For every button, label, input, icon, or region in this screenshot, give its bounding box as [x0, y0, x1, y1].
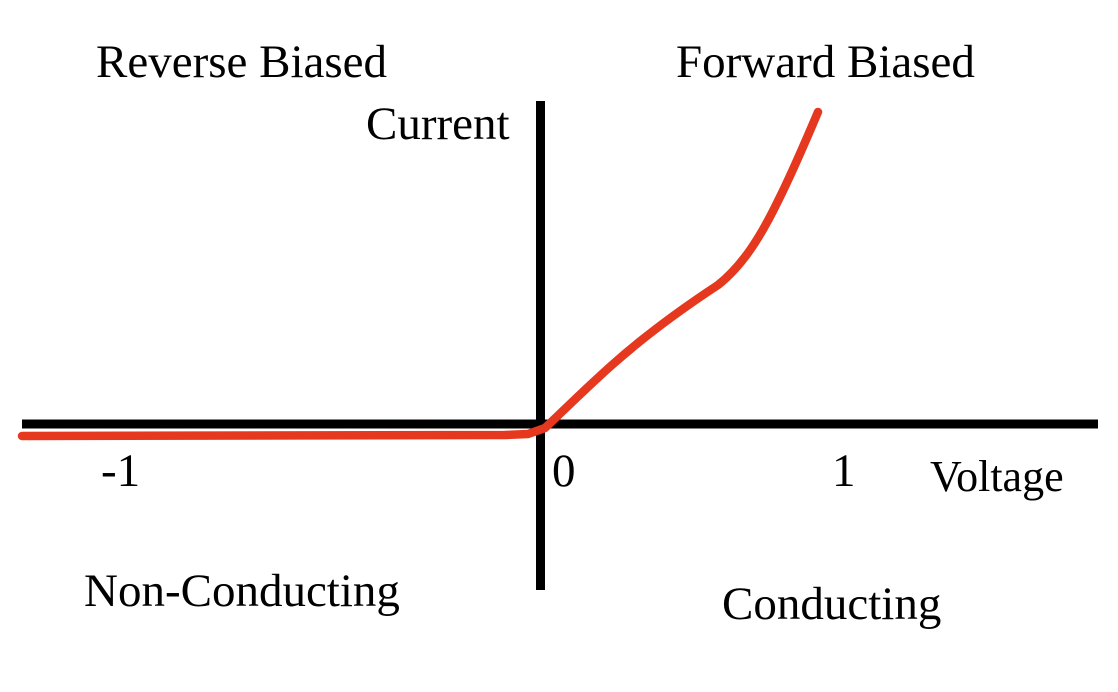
annotation-non-conducting: Non-Conducting — [84, 568, 400, 615]
annotation-conducting: Conducting — [722, 581, 941, 628]
x-tick-label-minus-one: -1 — [101, 448, 140, 495]
x-axis-title: Voltage — [930, 455, 1064, 499]
y-axis-title: Current — [366, 101, 510, 148]
annotation-reverse-biased: Reverse Biased — [96, 39, 387, 86]
diode-iv-curve — [22, 112, 818, 436]
diode-iv-characteristic-figure: Reverse Biased Forward Biased Non-Conduc… — [0, 0, 1118, 692]
x-tick-label-zero: 0 — [552, 448, 576, 495]
annotation-forward-biased: Forward Biased — [676, 39, 975, 86]
x-tick-label-one: 1 — [832, 448, 856, 495]
